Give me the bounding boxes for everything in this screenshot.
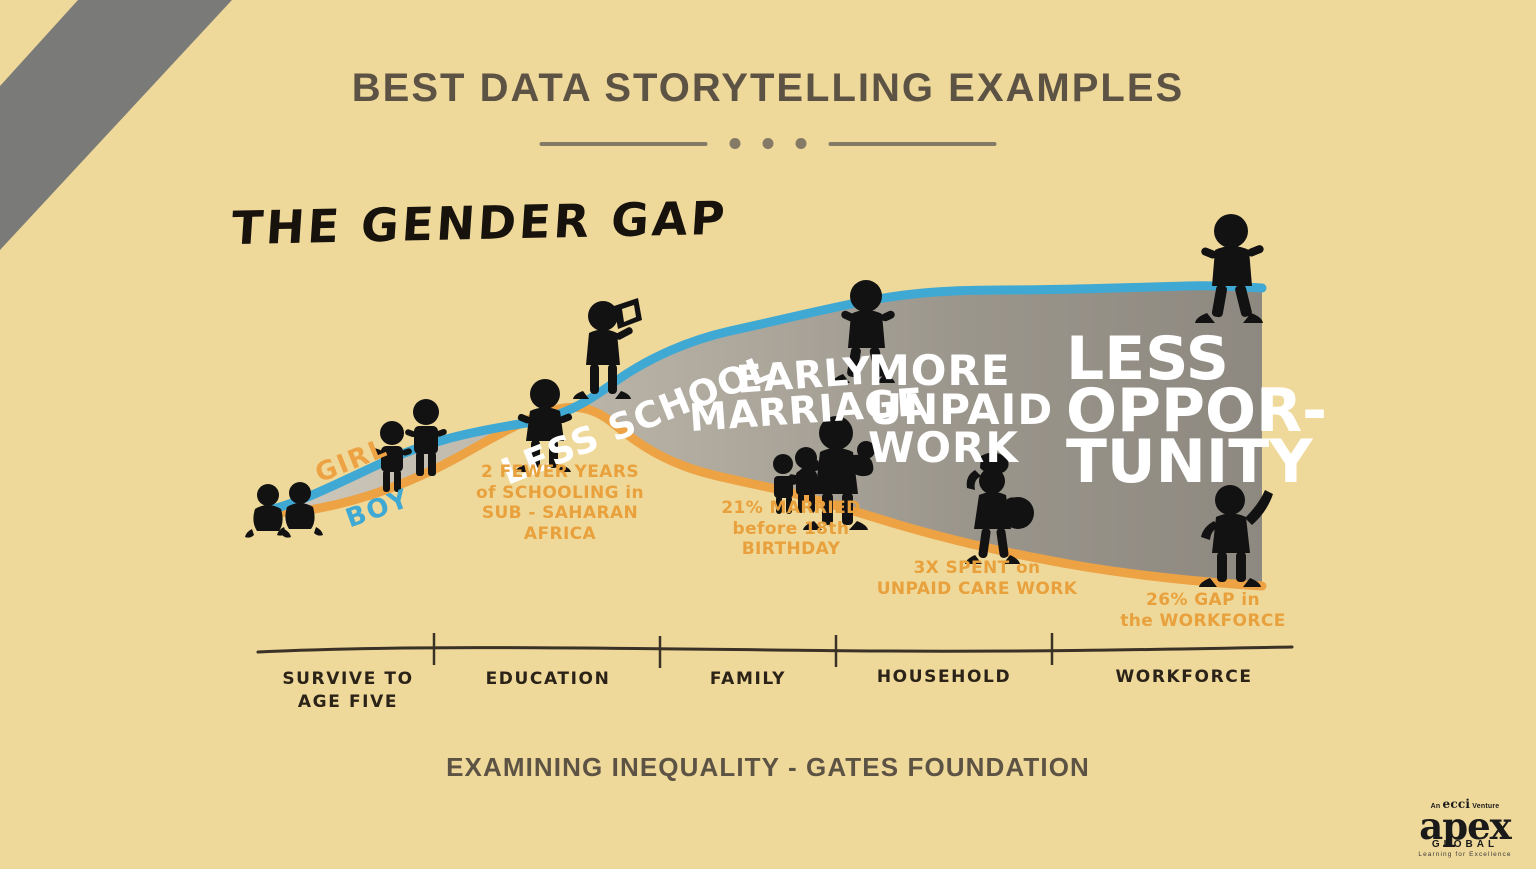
axis-label-3-line1: HOUSEHOLD (854, 666, 1034, 689)
axis-label-education: EDUCATION (458, 668, 638, 691)
family-stat-note: 21% MARRIED before 18th BIRTHDAY (688, 498, 894, 560)
household-stat-note: 3X SPENT on UNPAID CARE WORK (872, 558, 1082, 599)
axis-label-0-line2: AGE FIVE (258, 691, 438, 714)
axis-label-0-line1: SURVIVE TO (258, 668, 438, 691)
household-stat-line2: UNPAID CARE WORK (872, 579, 1082, 600)
logo-wordmark: apex (1404, 811, 1526, 841)
axis-label-2-line1: FAMILY (658, 668, 838, 691)
education-stat-note: 2 FEWER YEARS of SCHOOLING in SUB - SAHA… (452, 462, 668, 545)
axis-label-1-line1: EDUCATION (458, 668, 638, 691)
family-stat-line3: BIRTHDAY (688, 539, 894, 560)
workforce-stat-line2: the WORKFORCE (1110, 611, 1296, 632)
infographic-headline: THE GENDER GAP (230, 191, 730, 255)
less-opportunity-line3: TUNITY (1066, 437, 1327, 489)
more-unpaid-work-label: MORE UNPAID WORK (868, 352, 1053, 468)
more-unpaid-line3: WORK (868, 429, 1053, 468)
axis-label-family: FAMILY (658, 668, 838, 691)
workforce-stat-line1: 26% GAP in (1110, 590, 1296, 611)
apex-global-logo: An ecci Venture apex GLOBAL Learning for… (1404, 798, 1526, 858)
axis-label-4-line1: WORKFORCE (1094, 666, 1274, 689)
education-stat-line1: 2 FEWER YEARS (452, 462, 668, 483)
household-stat-line1: 3X SPENT on (872, 558, 1082, 579)
page-footer: EXAMINING INEQUALITY - GATES FOUNDATION (0, 752, 1536, 783)
education-stat-line2: of SCHOOLING in (452, 483, 668, 504)
education-stat-line3: SUB - SAHARAN (452, 503, 668, 524)
axis-label-survive-to-age-five: SURVIVE TO AGE FIVE (258, 668, 438, 714)
axis-label-workforce: WORKFORCE (1094, 666, 1274, 689)
slide-canvas: BEST DATA STORYTELLING EXAMPLES (0, 0, 1536, 864)
education-stat-line4: AFRICA (452, 524, 668, 545)
gender-gap-infographic: THE GENDER GAP GIRL BOY LESS SCHOOL EARL… (0, 0, 1536, 864)
family-stat-line1: 21% MARRIED (688, 498, 894, 519)
workforce-stat-note: 26% GAP in the WORKFORCE (1110, 590, 1296, 631)
axis-label-household: HOUSEHOLD (854, 666, 1034, 689)
axis-baseline (258, 647, 1292, 652)
less-opportunity-label: LESS OPPOR- TUNITY (1066, 334, 1327, 489)
logo-tagline: Learning for Excellence (1404, 852, 1526, 859)
family-stat-line2: before 18th (688, 519, 894, 540)
